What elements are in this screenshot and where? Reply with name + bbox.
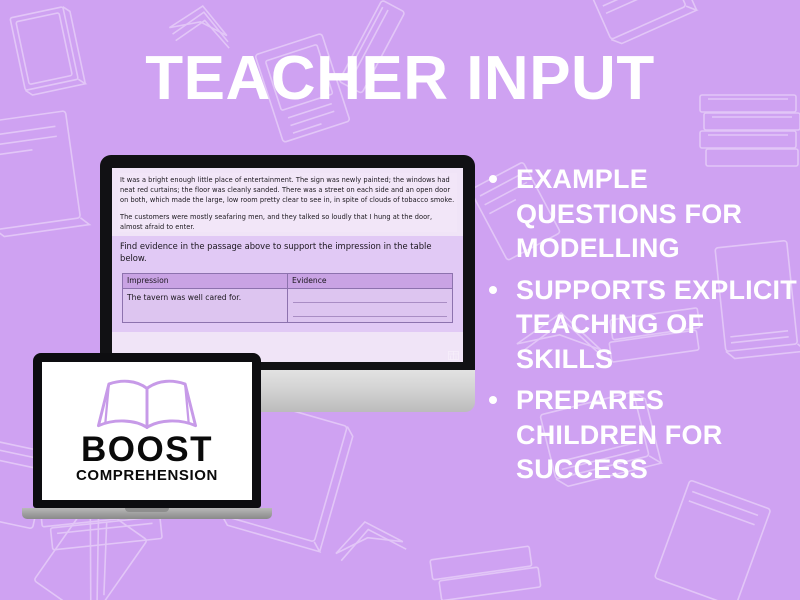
reading-passage: It was a bright enough little place of e… xyxy=(118,173,457,232)
brand-secondary-text: COMPREHENSION xyxy=(76,468,218,485)
bullet-dot-icon xyxy=(489,175,497,183)
list-item-label: PREPARES CHILDREN FOR SUCCESS xyxy=(516,385,722,484)
list-item-label: EXAMPLE QUESTIONS FOR MODELLING xyxy=(516,164,742,263)
laptop-device: BOOST COMPREHENSION xyxy=(33,353,272,519)
list-item: SUPPORTS EXPLICIT TEACHING OF SKILLS xyxy=(484,273,800,377)
cell-impression: The tavern was well cared for. xyxy=(123,288,288,322)
passage-paragraph-1: It was a bright enough little place of e… xyxy=(120,175,455,205)
bullet-dot-icon xyxy=(489,286,497,294)
evidence-table: Impression Evidence The tavern was well … xyxy=(122,273,453,323)
benefits-bullet-list: EXAMPLE QUESTIONS FOR MODELLING SUPPORTS… xyxy=(484,162,800,494)
laptop-lid: BOOST COMPREHENSION xyxy=(33,353,261,508)
answer-rule-line xyxy=(293,302,447,303)
table-header-row: Impression Evidence xyxy=(123,273,453,288)
bullet-dot-icon xyxy=(489,396,497,404)
question-text: Find evidence in the passage above to su… xyxy=(120,241,455,265)
open-book-icon xyxy=(95,377,199,431)
laptop-screen: BOOST COMPREHENSION xyxy=(42,362,252,500)
brand-primary-text: BOOST xyxy=(81,433,213,466)
monitor-bezel: It was a bright enough little place of e… xyxy=(100,155,475,370)
laptop-base-notch xyxy=(125,508,169,512)
slide-canvas: TEACHER INPUT It was a bright enough lit… xyxy=(0,0,800,600)
column-header-impression: Impression xyxy=(123,273,288,288)
table-row: The tavern was well cared for. xyxy=(123,288,453,322)
laptop-base xyxy=(22,508,272,519)
book-watermark-icon xyxy=(448,351,459,360)
cell-evidence[interactable] xyxy=(288,288,453,322)
list-item: PREPARES CHILDREN FOR SUCCESS xyxy=(484,383,800,487)
question-band: Find evidence in the passage above to su… xyxy=(112,236,463,269)
answer-table-area: Impression Evidence The tavern was well … xyxy=(112,269,463,332)
passage-paragraph-2: The customers were mostly seafaring men,… xyxy=(120,212,455,232)
answer-rule-line xyxy=(293,316,447,317)
list-item-label: SUPPORTS EXPLICIT TEACHING OF SKILLS xyxy=(516,275,797,374)
monitor-screen: It was a bright enough little place of e… xyxy=(112,168,463,362)
list-item: EXAMPLE QUESTIONS FOR MODELLING xyxy=(484,162,800,266)
page-title: TEACHER INPUT xyxy=(0,48,800,110)
column-header-evidence: Evidence xyxy=(288,273,453,288)
